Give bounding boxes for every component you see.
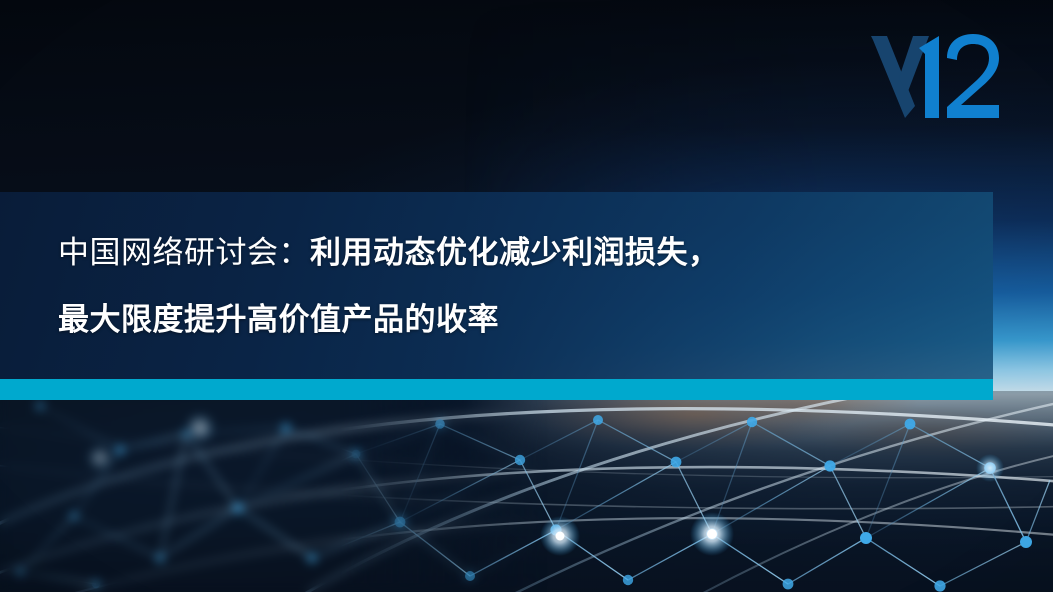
cyan-accent-bar [0,379,993,400]
title-prefix-regular: 中国网络研讨会： [58,235,310,270]
title-line-2: 最大限度提升高价值产品的收率 [58,304,969,335]
webinar-title-slide: ™ 中国网络研讨会：利用动态优化减少利润损失， 最大限度提升高价值产品的收率 [0,0,1053,592]
logo-digit-1 [919,36,939,118]
v12-logo: ™ [871,34,1001,120]
global-network-graphic [0,388,1053,592]
title-main-bold-line1: 利用动态优化减少利润损失， [310,235,720,270]
title-banner: 中国网络研讨会：利用动态优化减少利润损失， 最大限度提升高价值产品的收率 [0,192,993,379]
logo-trademark-icon: ™ [991,106,1000,116]
title-line-1: 中国网络研讨会：利用动态优化减少利润损失， [58,237,969,268]
